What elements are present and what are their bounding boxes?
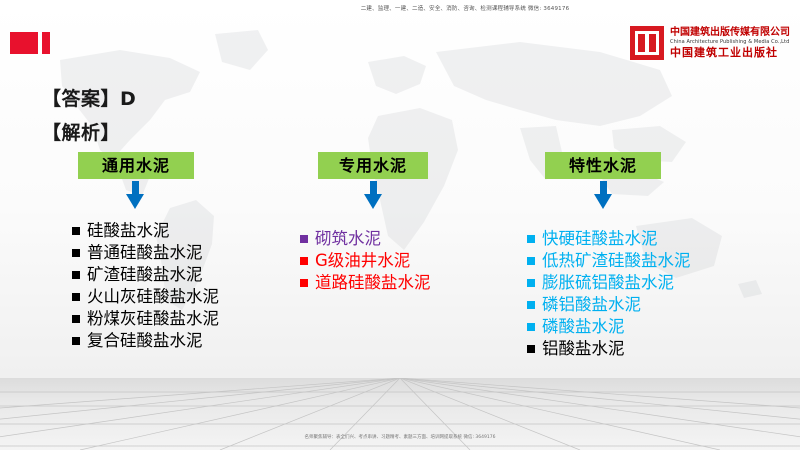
- list-item: 复合硅酸盐水泥: [72, 330, 219, 352]
- arrow-down-special: [364, 194, 382, 209]
- square-bullet-icon: [72, 249, 80, 257]
- list-item: 膨胀硫铝酸盐水泥: [527, 272, 691, 294]
- square-bullet-icon: [527, 323, 535, 331]
- answer-text: 【答案】D: [42, 84, 136, 111]
- list-item: 快硬硅酸盐水泥: [527, 228, 691, 250]
- arrow-stem-characteristic: [600, 181, 607, 195]
- square-bullet-icon: [527, 279, 535, 287]
- list-item-label: 膨胀硫铝酸盐水泥: [542, 272, 674, 294]
- publisher-logo: 中国建筑出版传媒有限公司 China Architecture Publishi…: [630, 26, 790, 60]
- list-item-label: 磷铝酸盐水泥: [542, 294, 641, 316]
- list-item-label: 火山灰硅酸盐水泥: [87, 286, 219, 308]
- list-special-cements: 砌筑水泥 G级油井水泥 道路硅酸盐水泥: [300, 228, 431, 294]
- square-bullet-icon: [527, 235, 535, 243]
- square-bullet-icon: [72, 271, 80, 279]
- publisher-imprint-cn: 中国建筑工业出版社: [670, 46, 790, 60]
- red-block-large: [10, 32, 38, 54]
- publisher-name-en: China Architecture Publishing & Media Co…: [670, 39, 790, 45]
- list-item: 硅酸盐水泥: [72, 220, 219, 242]
- arrow-stem-general: [132, 181, 139, 195]
- square-bullet-icon: [300, 235, 308, 243]
- square-bullet-icon: [527, 257, 535, 265]
- square-bullet-icon: [527, 345, 535, 353]
- list-characteristic-cements: 快硬硅酸盐水泥 低热矿渣硅酸盐水泥 膨胀硫铝酸盐水泥 磷铝酸盐水泥 磷酸盐水泥 …: [527, 228, 691, 360]
- list-item-label: 铝酸盐水泥: [542, 338, 625, 360]
- top-note-text: 二建、监理、一建、二造、安全、消防、咨询、检测课程辅导系统 微信: 364917…: [300, 4, 630, 12]
- publisher-logo-icon: [630, 26, 664, 60]
- list-item: 矿渣硅酸盐水泥: [72, 264, 219, 286]
- analysis-label: 【解析】: [42, 118, 120, 145]
- list-item-label: 复合硅酸盐水泥: [87, 330, 203, 352]
- square-bullet-icon: [527, 301, 535, 309]
- list-item-label: 道路硅酸盐水泥: [315, 272, 431, 294]
- square-bullet-icon: [72, 337, 80, 345]
- category-box-general: 通用水泥: [78, 152, 194, 179]
- list-item-label: 砌筑水泥: [315, 228, 381, 250]
- red-block-small: [42, 32, 50, 54]
- category-box-characteristic: 特性水泥: [545, 152, 661, 179]
- list-item: 普通硅酸盐水泥: [72, 242, 219, 264]
- list-item-label: 硅酸盐水泥: [87, 220, 170, 242]
- list-item-label: 磷酸盐水泥: [542, 316, 625, 338]
- arrow-stem-special: [370, 181, 377, 195]
- list-item-label: G级油井水泥: [315, 250, 410, 272]
- red-accent-blocks: [10, 32, 52, 54]
- list-item: 道路硅酸盐水泥: [300, 272, 431, 294]
- list-item: 低热矿渣硅酸盐水泥: [527, 250, 691, 272]
- arrow-down-general: [126, 194, 144, 209]
- list-item: 磷酸盐水泥: [527, 316, 691, 338]
- list-item-label: 矿渣硅酸盐水泥: [87, 264, 203, 286]
- square-bullet-icon: [72, 227, 80, 235]
- list-item: 砌筑水泥: [300, 228, 431, 250]
- footer-note-text: 名师聚焦辅导：表全们兴、考点串讲、习题精考、素题三方面、培训网提取系统 微信: …: [0, 434, 800, 440]
- publisher-name-cn: 中国建筑出版传媒有限公司: [670, 27, 790, 40]
- list-item-label: 快硬硅酸盐水泥: [542, 228, 658, 250]
- list-item: 火山灰硅酸盐水泥: [72, 286, 219, 308]
- list-item: 铝酸盐水泥: [527, 338, 691, 360]
- list-item-label: 粉煤灰硅酸盐水泥: [87, 308, 219, 330]
- square-bullet-icon: [300, 279, 308, 287]
- list-item: 粉煤灰硅酸盐水泥: [72, 308, 219, 330]
- square-bullet-icon: [72, 315, 80, 323]
- slide: 二建、监理、一建、二造、安全、消防、咨询、检测课程辅导系统 微信: 364917…: [0, 0, 800, 450]
- category-box-special: 专用水泥: [318, 152, 428, 179]
- square-bullet-icon: [72, 293, 80, 301]
- arrow-down-characteristic: [594, 194, 612, 209]
- list-item: G级油井水泥: [300, 250, 431, 272]
- list-item-label: 低热矿渣硅酸盐水泥: [542, 250, 691, 272]
- publisher-logo-text: 中国建筑出版传媒有限公司 China Architecture Publishi…: [670, 27, 790, 60]
- list-general-cements: 硅酸盐水泥 普通硅酸盐水泥 矿渣硅酸盐水泥 火山灰硅酸盐水泥 粉煤灰硅酸盐水泥 …: [72, 220, 219, 352]
- square-bullet-icon: [300, 257, 308, 265]
- list-item: 磷铝酸盐水泥: [527, 294, 691, 316]
- list-item-label: 普通硅酸盐水泥: [87, 242, 203, 264]
